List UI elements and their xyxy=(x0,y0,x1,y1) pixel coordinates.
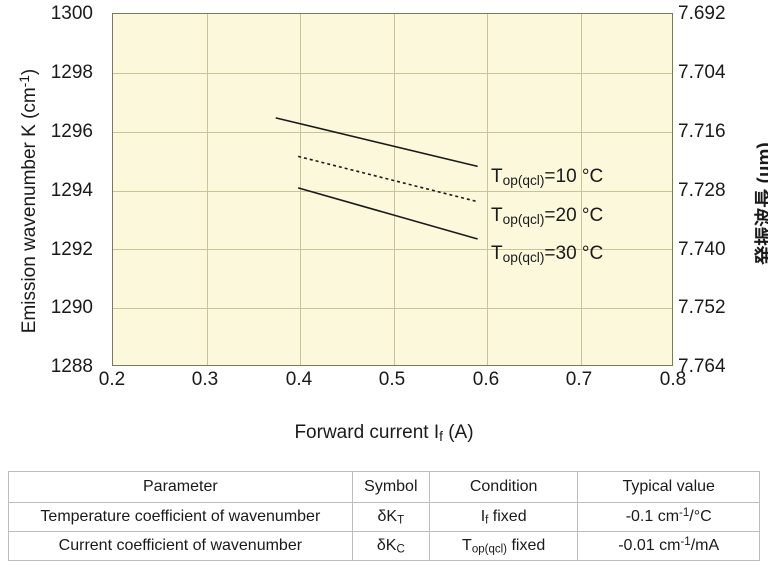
x-axis-title: Forward current If (A) xyxy=(0,422,768,444)
cell-symbol: δKT xyxy=(352,503,429,532)
cell-parameter: Temperature coefficient of wavenumber xyxy=(9,503,353,532)
y2-tick-label: 7.740 xyxy=(678,240,768,259)
annotation-symbol: T xyxy=(491,205,503,226)
x-tick-label: 0.3 xyxy=(165,369,245,391)
table-header-row: Parameter Symbol Condition Typical value xyxy=(9,472,760,503)
data-curves xyxy=(113,14,674,367)
value-suffix: /mA xyxy=(691,537,719,554)
cell-symbol: δKC xyxy=(352,532,429,561)
y2-tick-label: 7.704 xyxy=(678,63,768,82)
x-tick-label: 0.6 xyxy=(446,369,526,391)
value-superscript: -1 xyxy=(680,536,690,548)
table-row: Current coefficient of wavenumber δKC To… xyxy=(9,532,760,561)
x-tick-label: 0.5 xyxy=(352,369,432,391)
y-tick-label: 1300 xyxy=(0,4,93,23)
cell-typical-value: -0.01 cm-1/mA xyxy=(578,532,760,561)
annotation-temp-20c: Top(qcl)=20 °C xyxy=(491,205,603,227)
x-axis-title-unit: (A) xyxy=(443,422,474,443)
annotation-temp-10c: Top(qcl)=10 °C xyxy=(491,166,603,188)
symbol-text: δK xyxy=(377,537,397,554)
cell-typical-value: -0.1 cm-1/°C xyxy=(578,503,760,532)
annotation-symbol: T xyxy=(491,243,503,264)
plot-area: Top(qcl)=10 °C Top(qcl)=20 °C Top(qcl)=3… xyxy=(112,13,673,366)
annotation-temp-30c: Top(qcl)=30 °C xyxy=(491,243,603,265)
x-tick-label: 0.7 xyxy=(539,369,619,391)
cell-condition: Top(qcl) fixed xyxy=(429,532,577,561)
x-tick-label: 0.4 xyxy=(259,369,339,391)
condition-subscript: op(qcl) xyxy=(472,544,507,556)
y-tick-label: 1294 xyxy=(0,181,93,200)
x-axis-title-text: Forward current I xyxy=(294,422,439,443)
cell-condition: If fixed xyxy=(429,503,577,532)
x-tick-label: 0.8 xyxy=(633,369,713,391)
y2-tick-label: 7.692 xyxy=(678,4,768,23)
value-text: -0.1 cm xyxy=(626,508,679,525)
value-text: -0.01 cm xyxy=(618,537,680,554)
chart-figure: Emission wavenumber K (cm-1) 発振波長 (μm) F… xyxy=(0,0,768,460)
y2-tick-label: 7.752 xyxy=(678,298,768,317)
annotation-value: =10 °C xyxy=(544,166,603,187)
value-superscript: -1 xyxy=(679,507,689,519)
condition-text: T xyxy=(462,537,472,554)
table-header-symbol: Symbol xyxy=(352,472,429,503)
annotation-symbol: T xyxy=(491,166,503,187)
symbol-subscript: C xyxy=(396,544,404,556)
annotation-subscript: op(qcl) xyxy=(503,250,545,265)
table-header-condition: Condition xyxy=(429,472,577,503)
y2-tick-label: 7.716 xyxy=(678,122,768,141)
symbol-subscript: T xyxy=(397,515,404,527)
y-tick-label: 1292 xyxy=(0,240,93,259)
x-tick-label: 0.2 xyxy=(72,369,152,391)
table-header-typical-value: Typical value xyxy=(578,472,760,503)
table-row: Temperature coefficient of wavenumber δK… xyxy=(9,503,760,532)
annotation-subscript: op(qcl) xyxy=(503,173,545,188)
y-tick-label: 1290 xyxy=(0,298,93,317)
value-suffix: /°C xyxy=(689,508,711,525)
condition-suffix: fixed xyxy=(507,537,545,554)
y-tick-label: 1296 xyxy=(0,122,93,141)
y2-tick-label: 7.728 xyxy=(678,181,768,200)
annotation-value: =20 °C xyxy=(544,205,603,226)
y-tick-label: 1298 xyxy=(0,63,93,82)
annotation-subscript: op(qcl) xyxy=(503,212,545,227)
condition-suffix: fixed xyxy=(488,508,526,525)
annotation-value: =30 °C xyxy=(544,243,603,264)
table-header-parameter: Parameter xyxy=(9,472,353,503)
parameter-table: Parameter Symbol Condition Typical value… xyxy=(8,471,760,561)
symbol-text: δK xyxy=(378,508,398,525)
cell-parameter: Current coefficient of wavenumber xyxy=(9,532,353,561)
